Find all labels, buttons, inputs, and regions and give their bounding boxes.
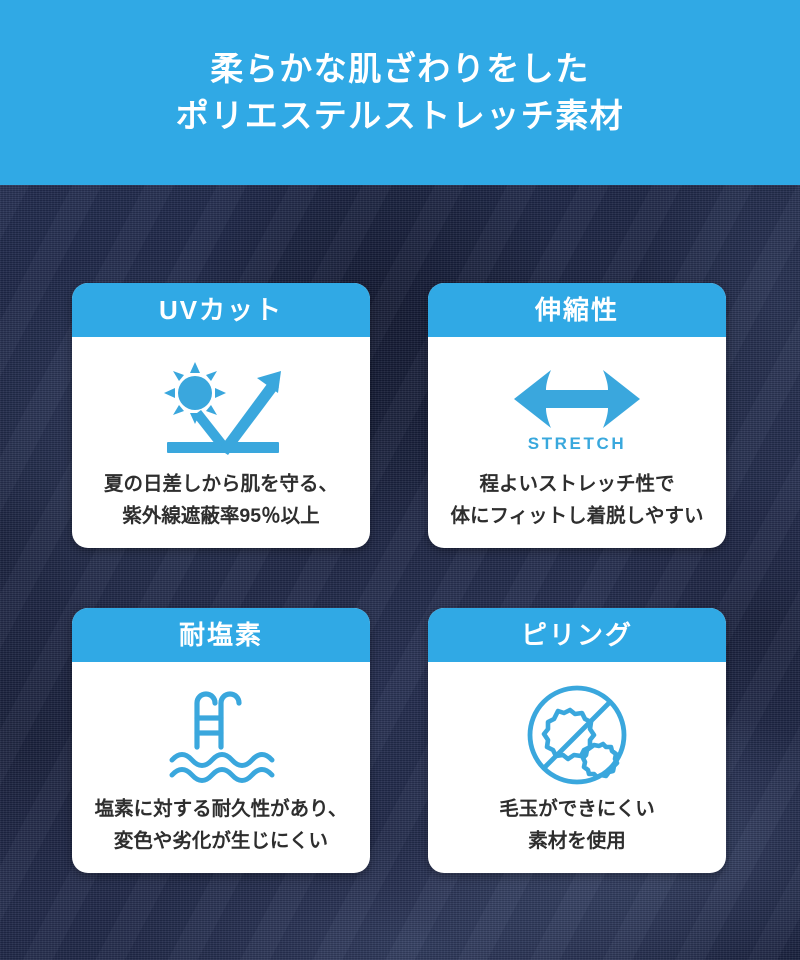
feature-card-stretch-body: STRETCH 程よいストレッチ性で 体にフィットし着脱しやすい bbox=[428, 337, 726, 548]
feature-card-chlorine-description: 塩素に対する耐久性があり、 変色や劣化が生じにくい bbox=[95, 794, 348, 857]
feature-card-pilling-body: 毛玉ができにくい 素材を使用 bbox=[428, 662, 726, 873]
hero-banner-line-2: ポリエステルストレッチ素材 bbox=[176, 93, 625, 140]
feature-card-uv-body: 夏の日差しから肌を守る、 紫外線遮蔽率95％以上 bbox=[72, 337, 370, 548]
feature-card-pilling-description-line-2: 素材を使用 bbox=[499, 826, 655, 858]
feature-card-pilling-description: 毛玉ができにくい 素材を使用 bbox=[499, 794, 655, 857]
feature-card-uv[interactable]: UVカット bbox=[72, 283, 370, 548]
pool-ladder-waves-icon bbox=[166, 676, 276, 794]
hero-banner: 柔らかな肌ざわりをした ポリエステルストレッチ素材 bbox=[0, 0, 800, 185]
feature-card-stretch[interactable]: 伸縮性 STRETCH 程よいストレッチ性で 体にフィットし着脱しやすい bbox=[428, 283, 726, 548]
stretch-caption: STRETCH bbox=[528, 434, 626, 454]
feature-card-stretch-description: 程よいストレッチ性で 体にフィットし着脱しやすい bbox=[451, 469, 704, 532]
feature-panel-page: 柔らかな肌ざわりをした ポリエステルストレッチ素材 UVカット bbox=[0, 0, 800, 960]
feature-card-stretch-description-line-1: 程よいストレッチ性で bbox=[451, 469, 704, 501]
feature-card-stretch-header: 伸縮性 bbox=[428, 283, 726, 337]
feature-card-pilling-title: ピリング bbox=[521, 622, 633, 648]
feature-card-chlorine-header: 耐塩素 bbox=[72, 608, 370, 662]
feature-card-uv-description: 夏の日差しから肌を守る、 紫外線遮蔽率95％以上 bbox=[104, 469, 338, 532]
no-pilling-icon bbox=[525, 676, 629, 794]
feature-card-chlorine-description-line-2: 変色や劣化が生じにくい bbox=[95, 826, 348, 858]
feature-card-uv-description-line-1: 夏の日差しから肌を守る、 bbox=[104, 469, 338, 501]
feature-card-stretch-title: 伸縮性 bbox=[535, 297, 619, 323]
feature-card-pilling-header: ピリング bbox=[428, 608, 726, 662]
feature-card-uv-header: UVカット bbox=[72, 283, 370, 337]
feature-card-grid: UVカット bbox=[0, 185, 800, 960]
feature-card-chlorine-description-line-1: 塩素に対する耐久性があり、 bbox=[95, 794, 348, 826]
feature-card-pilling[interactable]: ピリング bbox=[428, 608, 726, 873]
feature-card-uv-title: UVカット bbox=[159, 297, 283, 323]
feature-card-stretch-description-line-2: 体にフィットし着脱しやすい bbox=[451, 501, 704, 533]
feature-card-chlorine-title: 耐塩素 bbox=[179, 622, 263, 648]
double-arrow-stretch-icon: STRETCH bbox=[511, 351, 643, 469]
feature-card-chlorine[interactable]: 耐塩素 bbox=[72, 608, 370, 873]
feature-card-chlorine-body: 塩素に対する耐久性があり、 変色や劣化が生じにくい bbox=[72, 662, 370, 873]
hero-banner-line-1: 柔らかな肌ざわりをした bbox=[210, 46, 590, 93]
feature-card-pilling-description-line-1: 毛玉ができにくい bbox=[499, 794, 655, 826]
sun-uv-reflect-icon bbox=[157, 351, 285, 469]
feature-card-uv-description-line-2: 紫外線遮蔽率95％以上 bbox=[104, 501, 338, 533]
